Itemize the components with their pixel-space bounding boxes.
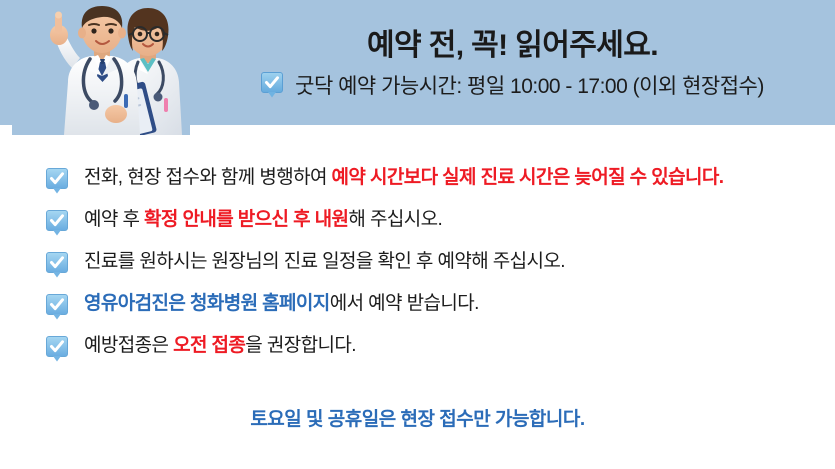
header-banner: 예약 전, 꼭! 읽어주세요. bbox=[0, 0, 835, 125]
notice-list: 전화, 현장 접수와 함께 병행하여 예약 시간보다 실제 진료 시간은 늦어질… bbox=[46, 165, 806, 375]
notice-segment: 에서 예약 받습니다. bbox=[330, 293, 479, 314]
notice-text: 전화, 현장 접수와 함께 병행하여 예약 시간보다 실제 진료 시간은 늦어질… bbox=[84, 165, 723, 191]
checkbox-checked-marker-icon bbox=[261, 72, 283, 98]
banner-subtitle: 굿닥 예약 가능시간: 평일 10:00 - 17:00 (이외 현장접수) bbox=[295, 70, 764, 100]
notice-segment-highlight: 영유아검진은 청화병원 홈페이지 bbox=[84, 293, 330, 314]
banner-subtitle-row: 굿닥 예약 가능시간: 평일 10:00 - 17:00 (이외 현장접수) bbox=[190, 70, 835, 100]
two-doctors-illustration bbox=[12, 2, 190, 135]
notice-segment: 해 주십시오. bbox=[348, 209, 442, 230]
notice-segment: 을 권장합니다. bbox=[245, 335, 356, 356]
notice-item: 예방접종은 오전 접종을 권장합니다. bbox=[46, 333, 806, 375]
notice-segment-highlight: 확정 안내를 받으신 후 내원 bbox=[144, 209, 348, 230]
banner-text-block: 예약 전, 꼭! 읽어주세요. bbox=[190, 0, 835, 125]
checkbox-checked-marker-icon bbox=[46, 336, 68, 362]
banner-title: 예약 전, 꼭! 읽어주세요. bbox=[190, 20, 835, 64]
notice-segment: 진료를 원하시는 원장님의 진료 일정을 확인 후 예약해 주십시오. bbox=[84, 251, 565, 272]
notice-item: 전화, 현장 접수와 함께 병행하여 예약 시간보다 실제 진료 시간은 늦어질… bbox=[46, 165, 806, 207]
checkbox-checked-marker-icon bbox=[46, 168, 68, 194]
checkbox-checked-marker-icon bbox=[46, 294, 68, 320]
notice-item: 영유아검진은 청화병원 홈페이지에서 예약 받습니다. bbox=[46, 291, 806, 333]
notice-text: 예방접종은 오전 접종을 권장합니다. bbox=[84, 333, 356, 359]
footer-notice: 토요일 및 공휴일은 현장 접수만 가능합니다. bbox=[0, 404, 835, 431]
notice-segment-highlight: 예약 시간보다 실제 진료 시간은 늦어질 수 있습니다. bbox=[332, 167, 724, 188]
checkbox-checked-marker-icon bbox=[46, 252, 68, 278]
checkbox-checked-marker-icon bbox=[46, 210, 68, 236]
notice-item: 진료를 원하시는 원장님의 진료 일정을 확인 후 예약해 주십시오. bbox=[46, 249, 806, 291]
notice-segment: 예방접종은 bbox=[84, 335, 173, 356]
notice-item: 예약 후 확정 안내를 받으신 후 내원해 주십시오. bbox=[46, 207, 806, 249]
notice-segment: 예약 후 bbox=[84, 209, 144, 230]
notice-text: 영유아검진은 청화병원 홈페이지에서 예약 받습니다. bbox=[84, 291, 479, 317]
notice-segment-highlight: 오전 접종 bbox=[173, 335, 245, 356]
notice-text: 예약 후 확정 안내를 받으신 후 내원해 주십시오. bbox=[84, 207, 442, 233]
notice-text: 진료를 원하시는 원장님의 진료 일정을 확인 후 예약해 주십시오. bbox=[84, 249, 565, 275]
notice-page: 예약 전, 꼭! 읽어주세요. bbox=[0, 0, 835, 469]
notice-segment: 전화, 현장 접수와 함께 병행하여 bbox=[84, 167, 332, 188]
